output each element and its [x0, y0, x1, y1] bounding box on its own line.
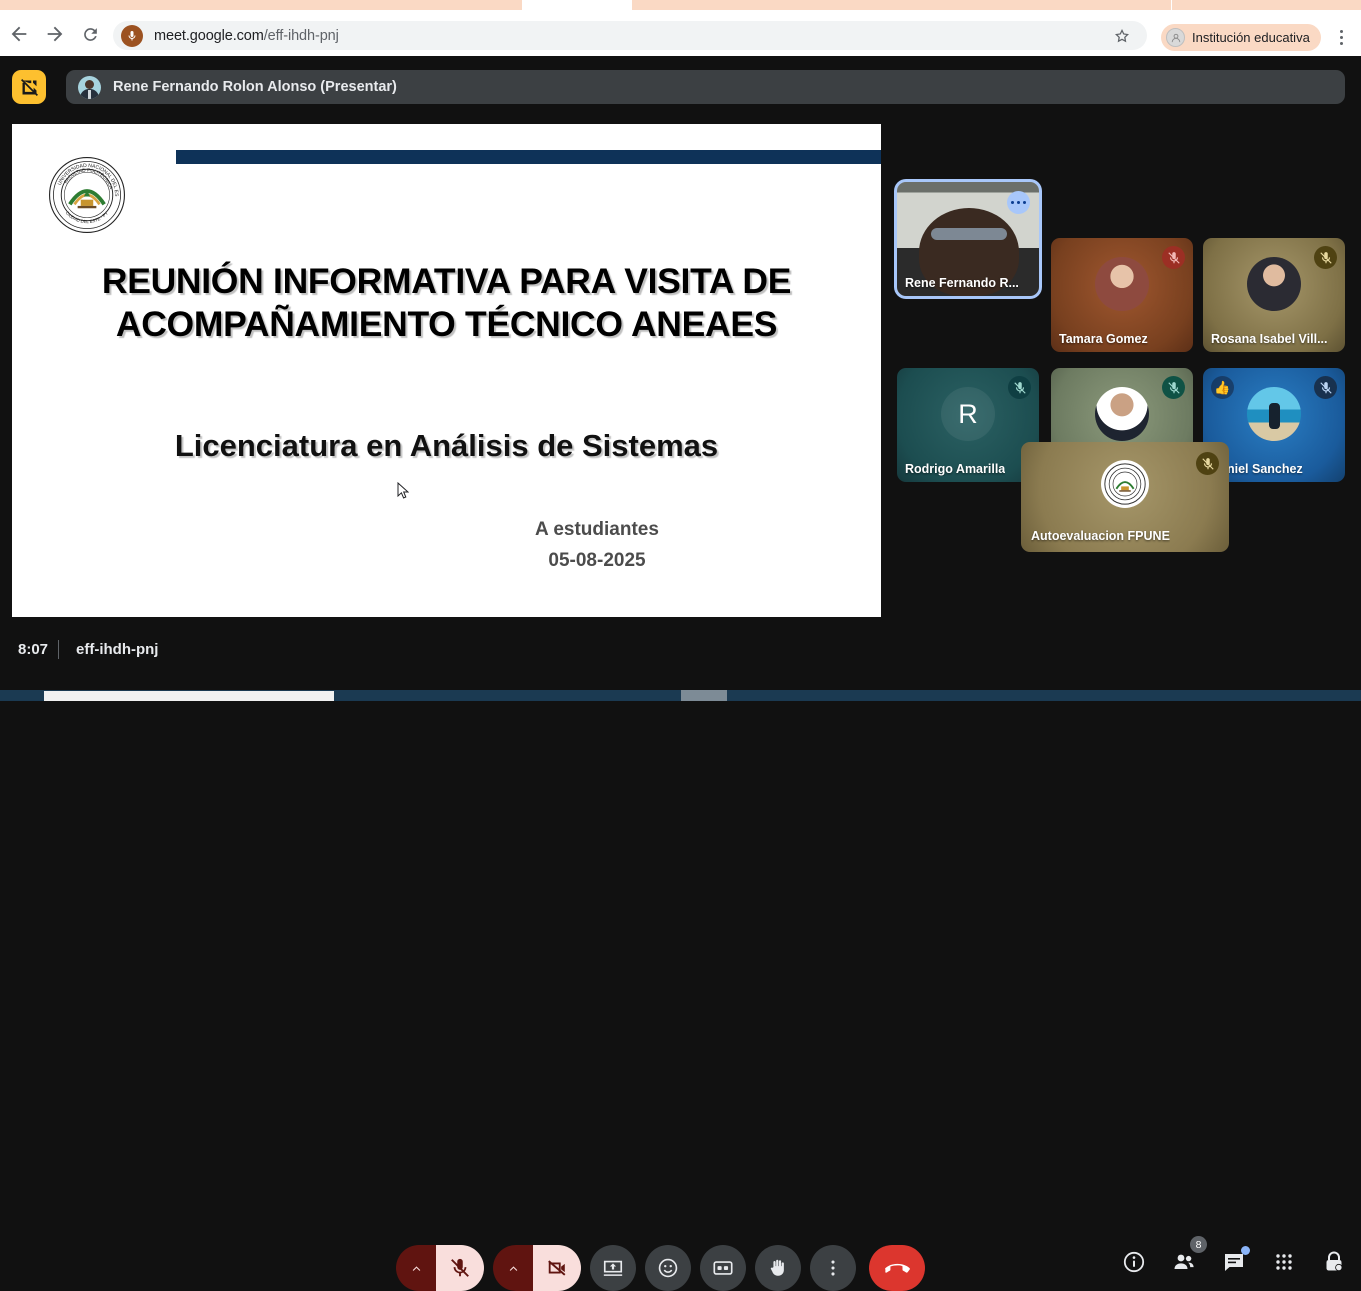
background-window[interactable] — [44, 691, 334, 701]
mic-off-icon — [1162, 246, 1185, 269]
forward-arrow-icon[interactable] — [44, 23, 66, 45]
address-bar-text: meet.google.com/eff-ihdh-pnj — [154, 28, 339, 44]
avatar — [1247, 387, 1301, 441]
participant-tile[interactable]: Tamara Gomez — [1051, 238, 1193, 352]
emoji-icon[interactable] — [645, 1245, 691, 1291]
browser-tab-active[interactable] — [522, 0, 632, 10]
participant-name: Autoevaluacion FPUNE — [1031, 529, 1170, 543]
raise-hand-icon[interactable] — [755, 1245, 801, 1291]
microphone-options-chevron-icon[interactable] — [396, 1245, 436, 1291]
thumbs-up-reaction-icon: 👍 — [1211, 376, 1234, 399]
avatar — [1095, 257, 1149, 311]
presentation-off-icon[interactable] — [12, 70, 46, 104]
camera-options-chevron-icon[interactable] — [493, 1245, 533, 1291]
mic-off-icon — [1008, 376, 1031, 399]
presenter-banner: Rene Fernando Rolon Alonso (Presentar) — [66, 70, 1345, 104]
kebab-menu-icon[interactable] — [1332, 25, 1350, 49]
participant-glasses — [931, 228, 1007, 240]
participant-tile[interactable]: Autoevaluacion FPUNE — [1021, 442, 1229, 552]
shared-slide[interactable]: UNIVERSIDAD NACIONAL DEL ESTE FACULTAD P… — [12, 124, 881, 669]
back-arrow-icon[interactable] — [8, 23, 30, 45]
mic-off-icon[interactable] — [436, 1245, 484, 1291]
background-window-tab[interactable] — [681, 690, 727, 701]
avatar — [1095, 387, 1149, 441]
microphone-icon — [121, 25, 143, 47]
lock-icon[interactable] — [1321, 1249, 1347, 1275]
meeting-code: eff-ihdh-pnj — [76, 641, 158, 658]
meet-bottom-bar: 8:07 eff-ihdh-pnj — [0, 617, 1361, 685]
mic-off-icon — [1196, 452, 1219, 475]
participant-tile[interactable]: Rosana Isabel Vill... — [1203, 238, 1345, 352]
avatar — [1166, 28, 1185, 47]
participant-tile[interactable]: R Rodrigo Amarilla — [897, 368, 1039, 482]
meet-app: Rene Fernando Rolon Alonso (Presentar) U… — [0, 56, 1361, 685]
profile-label: Institución educativa — [1192, 30, 1310, 45]
browser-tab[interactable] — [632, 0, 1172, 10]
participant-name: Rodrigo Amarilla — [905, 462, 1005, 476]
slide-subtitle: Licenciatura en Análisis de Sistemas — [52, 428, 841, 464]
more-options-icon[interactable] — [1007, 191, 1030, 214]
participant-name: Rosana Isabel Vill... — [1211, 332, 1328, 346]
slide-accent-bar — [176, 150, 881, 164]
people-icon[interactable]: 8 — [1171, 1249, 1197, 1275]
slide-title: REUNIÓN INFORMATIVA PARA VISITA DE ACOMP… — [52, 260, 841, 346]
mic-off-icon — [1314, 246, 1337, 269]
browser-tab[interactable] — [0, 0, 522, 10]
meet-right-controls: 8 — [1121, 1249, 1347, 1275]
reload-icon[interactable] — [79, 23, 101, 45]
chat-icon[interactable] — [1221, 1249, 1247, 1275]
browser-tab-strip — [0, 0, 1361, 10]
meeting-time: 8:07 — [18, 641, 48, 658]
camera-button[interactable] — [493, 1245, 581, 1291]
avatar-seal-icon — [1101, 460, 1149, 508]
star-icon[interactable] — [1113, 27, 1131, 45]
avatar-initial: R — [941, 387, 995, 441]
slide-audience: A estudiantes — [442, 514, 752, 545]
universidad-seal-icon: UNIVERSIDAD NACIONAL DEL ESTE FACULTAD P… — [48, 156, 126, 234]
divider — [58, 640, 59, 659]
participant-name: Rene Fernando R... — [905, 276, 1019, 290]
address-bar[interactable]: meet.google.com/eff-ihdh-pnj — [113, 21, 1147, 50]
slide-date: 05-08-2025 — [442, 545, 752, 576]
closed-captions-icon[interactable] — [700, 1245, 746, 1291]
avatar — [1247, 257, 1301, 311]
grid-apps-icon[interactable] — [1271, 1249, 1297, 1275]
mic-off-icon — [1314, 376, 1337, 399]
profile-chip[interactable]: Institución educativa — [1161, 24, 1321, 51]
browser-tab[interactable] — [1172, 0, 1361, 10]
mic-off-icon — [1162, 376, 1185, 399]
presenter-name: Rene Fernando Rolon Alonso (Presentar) — [113, 79, 397, 95]
slide-meta: A estudiantes 05-08-2025 — [442, 514, 752, 576]
microphone-button[interactable] — [396, 1245, 484, 1291]
video-off-icon[interactable] — [533, 1245, 581, 1291]
info-icon[interactable] — [1121, 1249, 1147, 1275]
participant-name: Tamara Gomez — [1059, 332, 1148, 346]
present-screen-icon[interactable] — [590, 1245, 636, 1291]
participants-count-badge: 8 — [1190, 1236, 1207, 1253]
url-host: meet.google.com — [154, 28, 264, 44]
more-options-icon[interactable] — [810, 1245, 856, 1291]
chat-unread-dot — [1241, 1246, 1250, 1255]
mouse-cursor-icon — [397, 482, 409, 500]
url-path: /eff-ihdh-pnj — [264, 28, 339, 44]
end-call-icon[interactable] — [869, 1245, 925, 1291]
participant-tile[interactable]: Rene Fernando R... — [897, 182, 1039, 296]
browser-toolbar: meet.google.com/eff-ihdh-pnj Institución… — [0, 10, 1361, 56]
presenter-avatar — [78, 76, 101, 99]
